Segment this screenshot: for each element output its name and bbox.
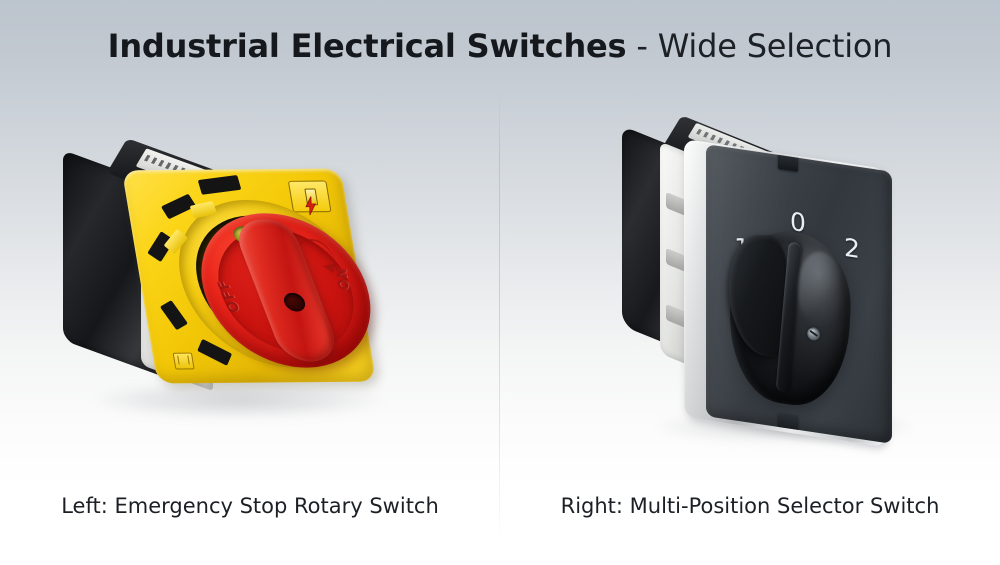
black-selector-knob[interactable] bbox=[726, 224, 854, 413]
page-title: Industrial Electrical Switches - Wide Se… bbox=[0, 26, 1000, 66]
electrical-hazard-badge bbox=[288, 181, 332, 213]
manufacturer-logo-icon bbox=[173, 353, 195, 370]
yellow-faceplate: OFF ON bbox=[122, 169, 376, 384]
caption-left: Left: Emergency Stop Rotary Switch bbox=[0, 492, 500, 520]
multi-position-selector-switch-image: 1 0 2 bbox=[620, 140, 920, 450]
page-title-secondary: - Wide Selection bbox=[626, 27, 892, 65]
padlock-hole bbox=[281, 292, 308, 313]
panel-divider bbox=[499, 92, 500, 547]
on-position-label: ON bbox=[334, 266, 353, 291]
caption-right: Right: Multi-Position Selector Switch bbox=[500, 492, 1000, 520]
drop-shadow bbox=[95, 382, 380, 418]
emergency-stop-rotary-switch-image: OFF ON bbox=[55, 150, 395, 440]
page-title-primary: Industrial Electrical Switches bbox=[108, 27, 627, 65]
slide-canvas: Industrial Electrical Switches - Wide Se… bbox=[0, 0, 1000, 565]
